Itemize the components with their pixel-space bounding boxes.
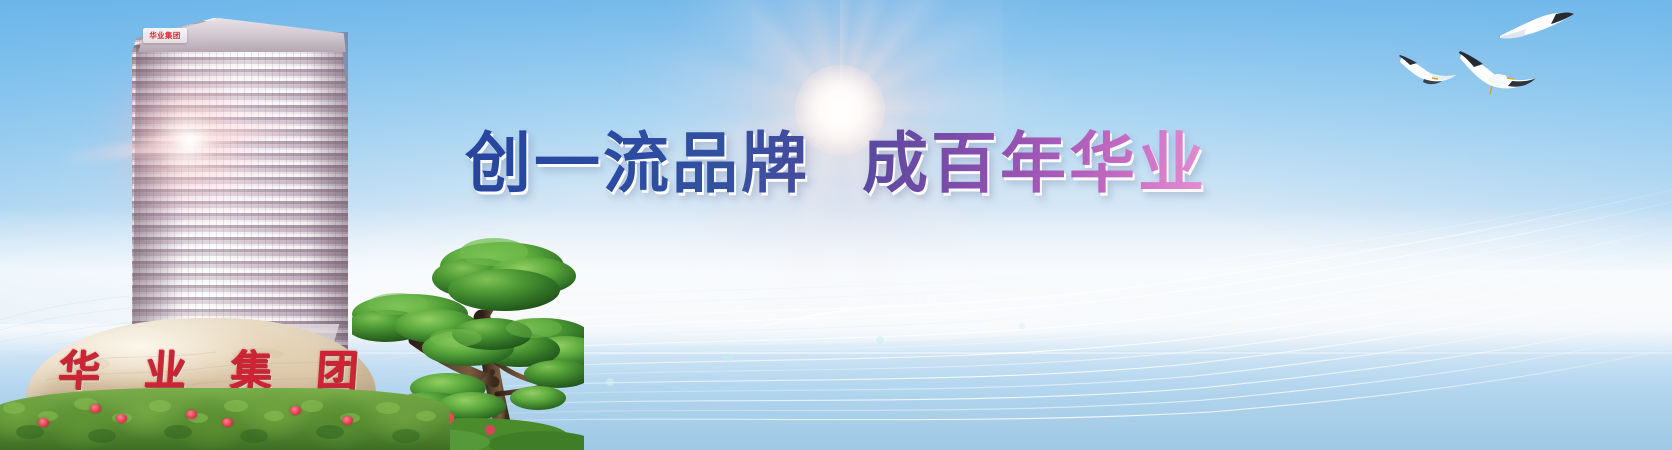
hedge-flower <box>186 410 197 419</box>
tower-right-facade-shading <box>300 32 348 358</box>
tower-left-facade-shading <box>132 32 184 358</box>
building-logo-text: 华业集团 <box>149 30 180 40</box>
seagull-icon <box>1496 6 1576 50</box>
trimmed-hedge <box>0 388 450 450</box>
high-rise-tower: 华业集团 <box>132 18 348 358</box>
hedge-flower <box>90 404 101 413</box>
hedge-flower <box>290 406 301 415</box>
inscription-char-3: 集 <box>229 350 274 392</box>
company-hero-banner: 华业集团 华 业 集 团 <box>0 0 1672 450</box>
hedge-flower <box>222 418 233 427</box>
hedge-flower <box>342 416 353 425</box>
inscription-char-1: 华 <box>57 350 102 392</box>
hedge-flower <box>38 418 49 427</box>
seagull-icon <box>1452 44 1544 100</box>
hedge-flower <box>116 414 127 423</box>
inscription-char-2: 业 <box>143 350 188 392</box>
building-logo-sign: 华业集团 <box>143 28 187 43</box>
